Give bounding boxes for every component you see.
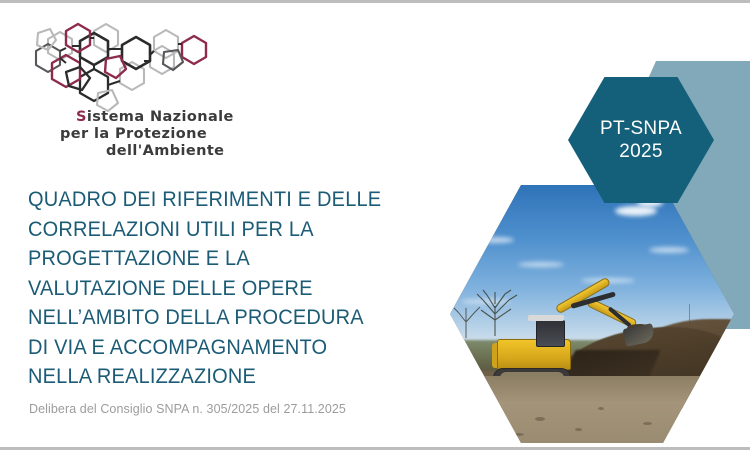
title-line-4: VALUTAZIONE DELLE OPERE — [28, 274, 400, 304]
logo-line-3: dell'Ambiente — [60, 143, 265, 160]
dirt-speck — [598, 407, 604, 410]
snpa-logo-wordmark: Sistema Nazionale per la Protezione dell… — [60, 109, 265, 165]
logo-line-1-text: istema Nazionale — [87, 109, 234, 125]
foreground-dirt — [450, 376, 734, 443]
dirt-speck — [484, 402, 491, 405]
snpa-logo-mark — [22, 17, 237, 122]
snpa-logo: Sistema Nazionale per la Protezione dell… — [22, 17, 262, 162]
title-line-3: PROGETTAZIONE E LA — [28, 244, 400, 274]
page-title: QUADRO DEI RIFERIMENTI E DELLE CORRELAZI… — [28, 185, 428, 392]
dirt-speck — [512, 433, 524, 436]
subtitle-deliberation: Delibera del Consiglio SNPA n. 305/2025 … — [29, 401, 346, 416]
title-line-1: QUADRO DEI RIFERIMENTI E DELLE — [28, 185, 400, 215]
tree-icon — [450, 304, 484, 338]
dirt-speck — [575, 428, 582, 431]
cloud-icon — [478, 237, 514, 243]
badge-line-1: PT-SNPA — [600, 117, 682, 140]
logo-line-2-text: per la Protezione — [60, 126, 207, 142]
excavator-cab — [536, 320, 566, 347]
title-line-6: DI VIA E ACCOMPAGNAMENTO — [28, 333, 400, 363]
logo-line-2: per la Protezione — [60, 126, 265, 143]
title-line-5: NELL’AMBITO DELLA PROCEDURA — [28, 303, 400, 333]
title-line-7: NELLA REALIZZAZIONE — [28, 362, 400, 392]
logo-line-3-text: dell'Ambiente — [106, 143, 224, 159]
cloud-icon — [615, 206, 657, 216]
dirt-speck — [689, 397, 697, 401]
cloud-icon — [649, 247, 689, 253]
badge-line-2: 2025 — [619, 140, 662, 163]
logo-cap-s: S — [76, 109, 87, 125]
cover-page: Sistema Nazionale per la Protezione dell… — [0, 0, 750, 450]
excavator-cab-roof — [528, 315, 563, 321]
title-line-2: CORRELAZIONI UTILI PER LA — [28, 215, 400, 245]
logo-line-1: Sistema Nazionale — [60, 109, 265, 126]
